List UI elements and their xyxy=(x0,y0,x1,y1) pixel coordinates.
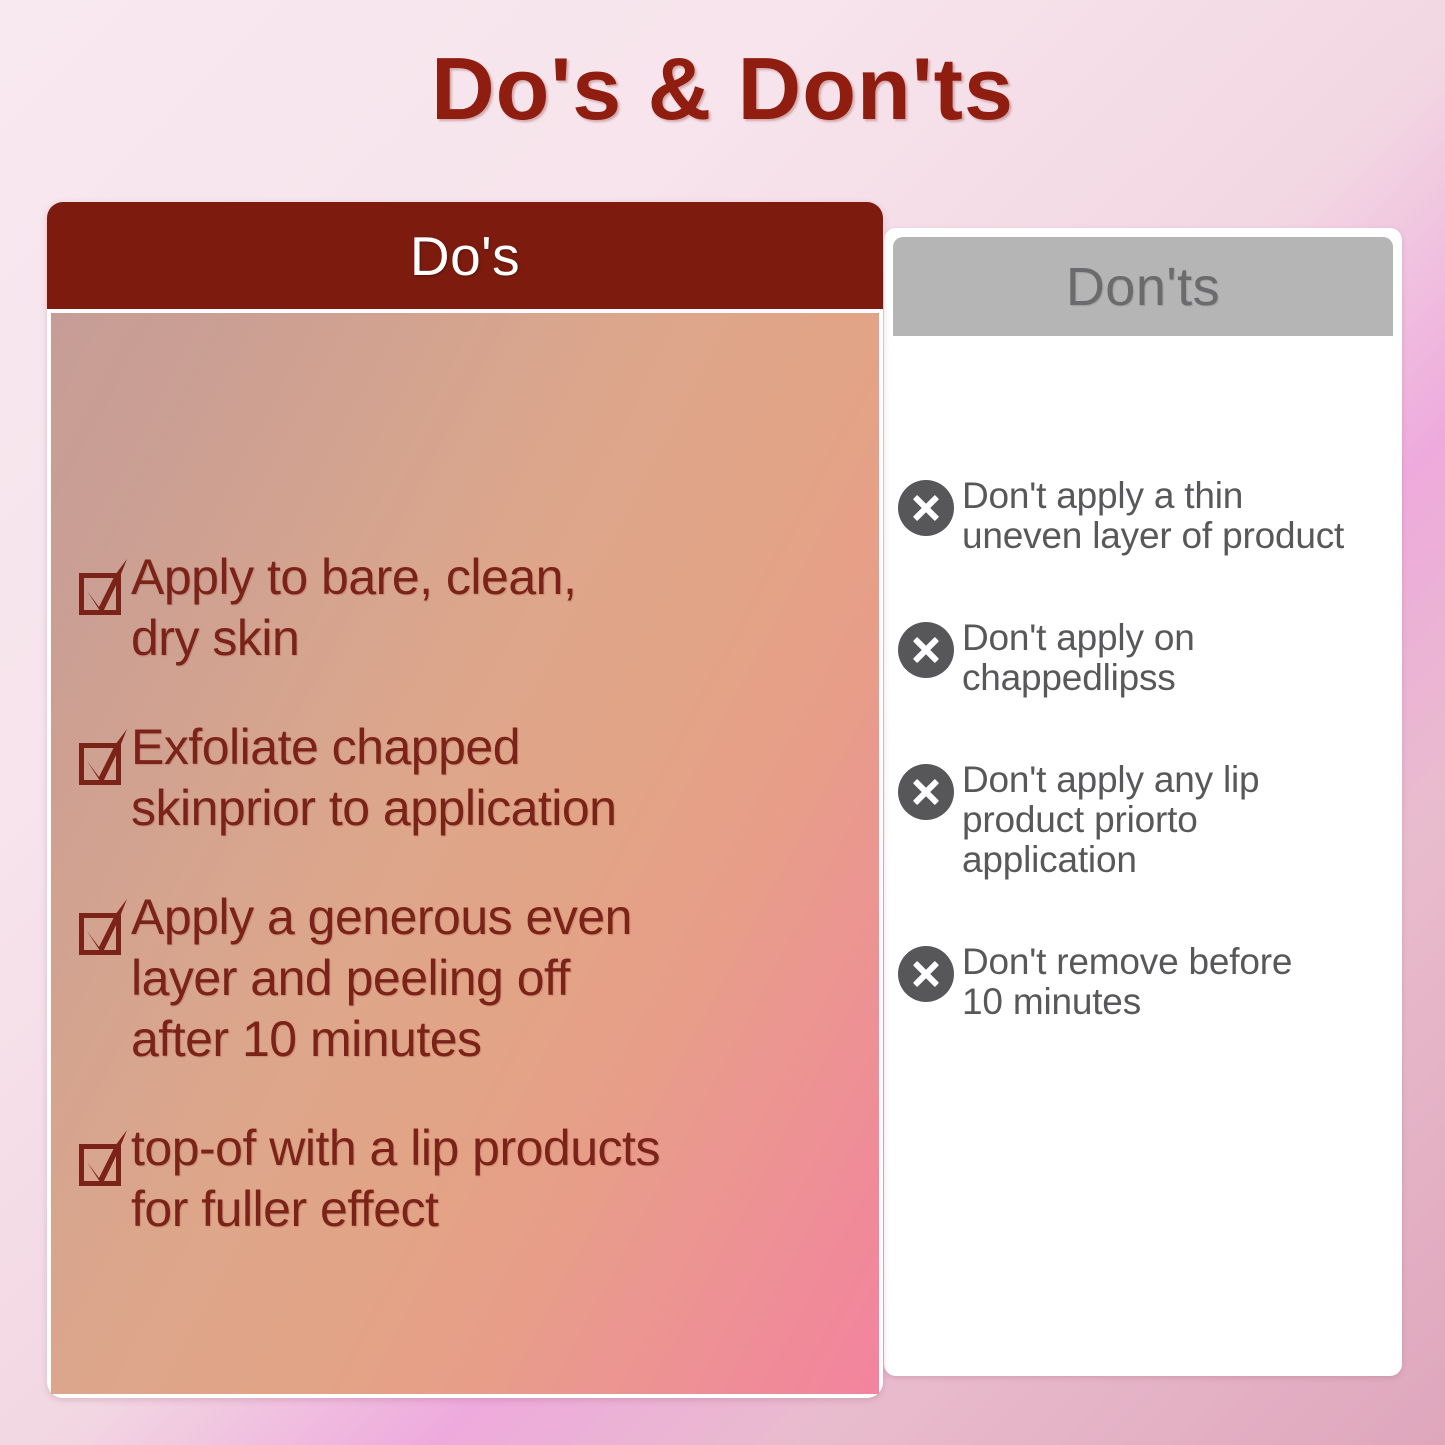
checkmark-glyph xyxy=(75,897,131,959)
checkbox-checked-icon xyxy=(75,557,131,619)
list-item: Don't apply any lip product priorto appl… xyxy=(898,760,1390,880)
donts-panel-header: Don'ts xyxy=(893,237,1393,336)
dos-header-label: Do's xyxy=(410,224,520,288)
donts-item-line: 10 minutes xyxy=(962,982,1292,1022)
dos-item-line: for fuller effect xyxy=(131,1179,660,1240)
dos-panel-header: Do's xyxy=(47,202,883,309)
dos-item-line: dry skin xyxy=(131,608,576,669)
dos-item-line: skinprior to application xyxy=(131,778,617,839)
list-item: top-of with a lip products for fuller ef… xyxy=(75,1118,875,1240)
list-item: Don't apply on chappedlipss xyxy=(898,618,1390,698)
circle-x-icon xyxy=(898,946,954,1002)
donts-item-line: uneven layer of product xyxy=(962,516,1344,556)
dos-item-text: top-of with a lip products for fuller ef… xyxy=(131,1118,660,1240)
list-item: Apply a generous even layer and peeling … xyxy=(75,887,875,1070)
list-item: Apply to bare, clean, dry skin xyxy=(75,547,875,669)
donts-item-text: Don't apply a thin uneven layer of produ… xyxy=(962,476,1344,556)
list-item: Don't remove before 10 minutes xyxy=(898,942,1390,1022)
dos-item-line: after 10 minutes xyxy=(131,1009,632,1070)
checkbox-checked-icon xyxy=(75,1128,131,1190)
list-item: Don't apply a thin uneven layer of produ… xyxy=(898,476,1390,556)
donts-item-line: Don't apply a thin xyxy=(962,476,1344,516)
checkmark-glyph xyxy=(75,557,131,619)
dos-item-line: Exfoliate chapped xyxy=(131,717,617,778)
checkbox-checked-icon xyxy=(75,897,131,959)
donts-panel: Don'ts Don't apply a thin uneven layer o… xyxy=(884,228,1402,1376)
donts-item-text: Don't apply any lip product priorto appl… xyxy=(962,760,1259,880)
page-title: Do's & Don'ts xyxy=(0,38,1445,140)
dos-item-text: Apply to bare, clean, dry skin xyxy=(131,547,576,669)
dos-list: Apply to bare, clean, dry skin Exfoliate… xyxy=(75,547,875,1288)
checkmark-glyph xyxy=(75,1128,131,1190)
donts-header-label: Don'ts xyxy=(1066,256,1220,318)
dos-item-line: Apply to bare, clean, xyxy=(131,547,576,608)
donts-item-line: Don't apply on xyxy=(962,618,1195,658)
dos-panel-body: Apply to bare, clean, dry skin Exfoliate… xyxy=(51,313,879,1394)
list-item: Exfoliate chapped skinprior to applicati… xyxy=(75,717,875,839)
checkbox-checked-icon xyxy=(75,727,131,789)
circle-x-icon xyxy=(898,480,954,536)
donts-list: Don't apply a thin uneven layer of produ… xyxy=(898,476,1390,1084)
dos-item-line: top-of with a lip products xyxy=(131,1118,660,1179)
dos-item-line: layer and peeling off xyxy=(131,948,632,1009)
dos-item-line: Apply a generous even xyxy=(131,887,632,948)
checkmark-glyph xyxy=(75,727,131,789)
donts-item-line: application xyxy=(962,840,1259,880)
donts-item-text: Don't apply on chappedlipss xyxy=(962,618,1195,698)
donts-item-text: Don't remove before 10 minutes xyxy=(962,942,1292,1022)
circle-x-icon xyxy=(898,622,954,678)
dos-panel: Apply to bare, clean, dry skin Exfoliate… xyxy=(47,202,883,1398)
donts-item-line: Don't apply any lip xyxy=(962,760,1259,800)
dos-item-text: Exfoliate chapped skinprior to applicati… xyxy=(131,717,617,839)
donts-item-line: Don't remove before xyxy=(962,942,1292,982)
circle-x-icon xyxy=(898,764,954,820)
donts-item-line: chappedlipss xyxy=(962,658,1195,698)
dos-item-text: Apply a generous even layer and peeling … xyxy=(131,887,632,1070)
donts-item-line: product priorto xyxy=(962,800,1259,840)
